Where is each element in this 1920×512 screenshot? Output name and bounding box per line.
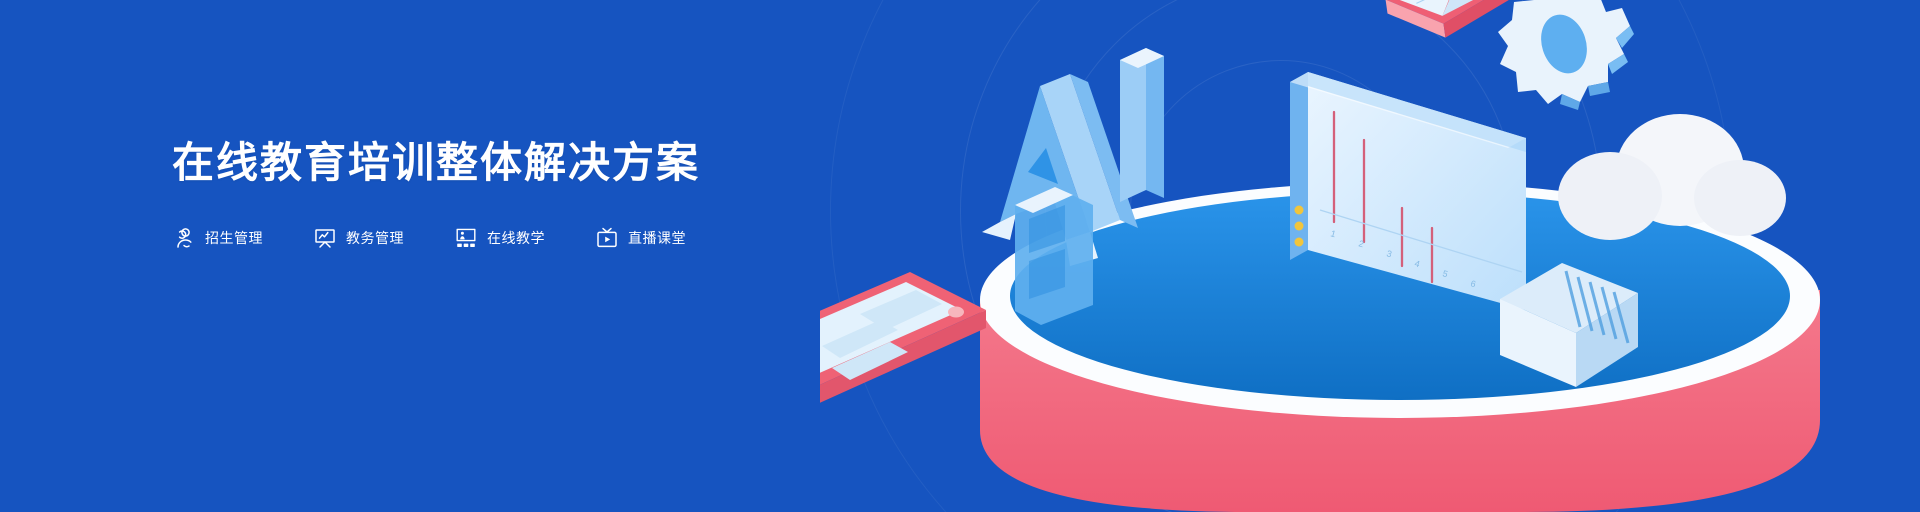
user-group-icon — [172, 226, 196, 250]
feature-item-live-classroom[interactable]: 直播课堂 — [595, 226, 686, 250]
gear-3d — [1498, 0, 1634, 110]
chart-board-icon — [313, 226, 337, 250]
feature-label: 招生管理 — [205, 228, 263, 248]
cloud-large — [1558, 114, 1786, 240]
feature-label: 在线教学 — [487, 228, 545, 248]
letter-b-3d — [1015, 187, 1093, 325]
live-tv-play-icon — [595, 226, 619, 250]
hero-illustration: 1 2 3 4 5 6 — [820, 0, 1920, 512]
page-title: 在线教育培训整体解决方案 — [172, 138, 932, 188]
feature-item-academic-affairs[interactable]: 教务管理 — [313, 226, 404, 250]
classroom-icon — [454, 226, 478, 250]
letter-stroke-3d — [1120, 48, 1164, 202]
tablet-device — [820, 272, 986, 418]
feature-list: 招生管理 教务管理 — [172, 226, 932, 250]
education-hero-banner: 1 2 3 4 5 6 — [0, 0, 1920, 512]
feature-item-enrollment[interactable]: 招生管理 — [172, 226, 263, 250]
feature-label: 教务管理 — [346, 228, 404, 248]
feature-item-online-teaching[interactable]: 在线教学 — [454, 226, 545, 250]
hero-content: 在线教育培训整体解决方案 招生管理 — [172, 138, 932, 250]
feature-label: 直播课堂 — [628, 228, 686, 248]
